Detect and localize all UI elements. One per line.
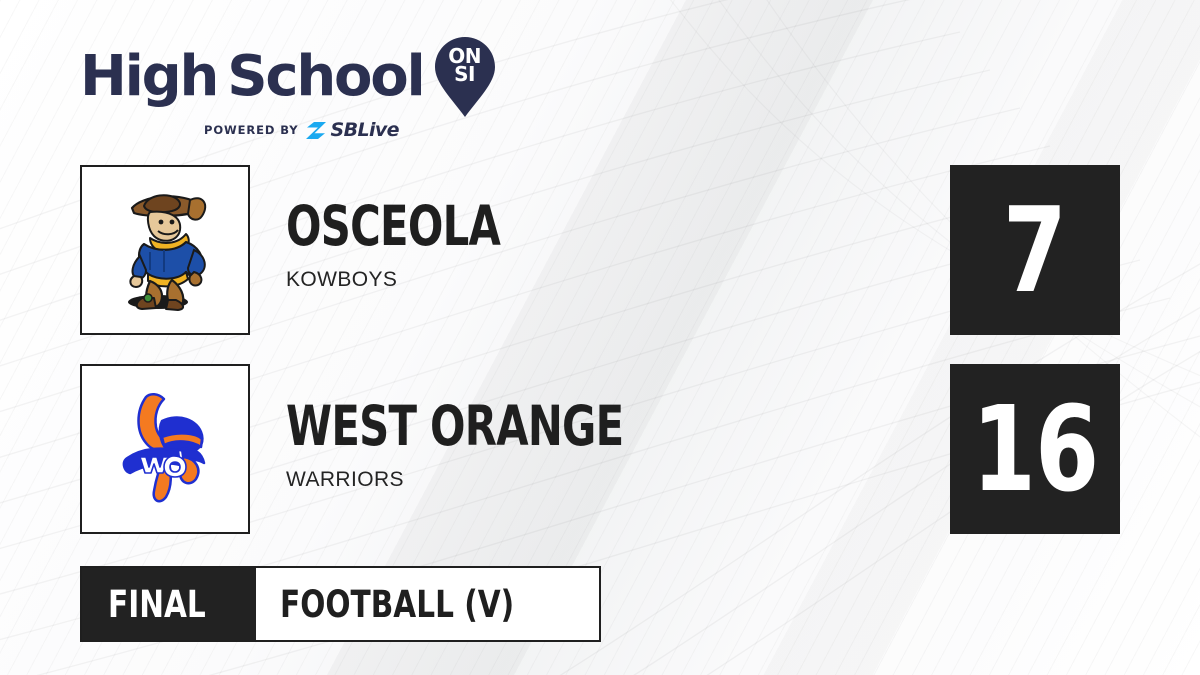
sblive-logo: SBLive <box>305 119 398 141</box>
sblive-s-mark-icon <box>305 121 327 140</box>
powered-by-label: POWERED BY <box>204 123 298 137</box>
on-si-pin-line-2: SI <box>434 65 496 83</box>
status-sport-label: FOOTBALL (V) <box>280 586 514 623</box>
team-name-osceola: OSCEOLA <box>286 200 500 254</box>
status-state-label: FINAL <box>108 586 206 623</box>
brand-logo: High School ON SI POWERED BY SBLive <box>80 36 496 141</box>
game-status-bar: FINAL FOOTBALL (V) <box>80 566 601 642</box>
team-logo-box-west-orange <box>80 364 250 534</box>
team-logo-box-osceola <box>80 165 250 335</box>
sblive-wordmark: SBLive <box>330 119 398 141</box>
powered-by-row: POWERED BY SBLive <box>80 119 496 141</box>
score-value-osceola: 7 <box>1003 191 1066 309</box>
status-badge-final: FINAL <box>82 568 256 640</box>
team-mascot-west-orange: WARRIORS <box>286 468 730 492</box>
score-value-west-orange: 16 <box>972 390 1099 508</box>
status-sport-block: FOOTBALL (V) <box>256 568 599 640</box>
scoreboard-graphic: High School ON SI POWERED BY SBLive <box>0 0 1200 675</box>
team-info-west-orange: WEST ORANGE WARRIORS <box>286 400 730 492</box>
team-info-osceola: OSCEOLA KOWBOYS <box>286 200 568 292</box>
brand-word-school: School <box>227 49 423 105</box>
cowboy-mascot-icon <box>106 186 224 314</box>
viking-helmet-icon <box>106 385 224 513</box>
score-box-west-orange: 16 <box>950 364 1120 534</box>
team-mascot-osceola: KOWBOYS <box>286 268 568 292</box>
brand-wordmark-row: High School ON SI <box>80 36 496 118</box>
team-name-west-orange: WEST ORANGE <box>286 400 623 454</box>
on-si-pin-icon: ON SI <box>434 36 496 118</box>
brand-word-high: High <box>80 49 217 105</box>
score-box-osceola: 7 <box>950 165 1120 335</box>
